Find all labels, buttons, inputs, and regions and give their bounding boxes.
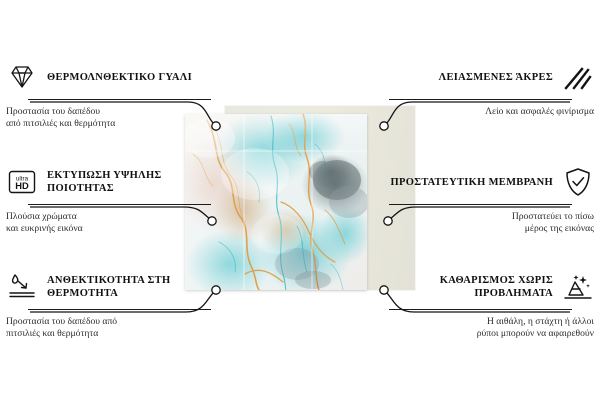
desc-line-1: Προστασία του δαπέδου [6,106,211,118]
feature-high-quality-print: ultra HD ΕΚΤΥΠΩΣΗ ΥΨΗΛΗΣ ΠΟΙΟΤΗΤΑΣ Πλούσ… [6,165,211,236]
desc-line-1: Λείο και ασφαλές φινίρισμα [389,106,594,118]
feature-header: ΠΡΟΣΤΑΤΕΥΤΙΚΗ ΜΕΜΒΡΑΝΗ [389,165,594,199]
svg-text:HD: HD [15,180,29,191]
desc-line-1: Η αιθάλη, η στάχτη ή άλλοι [389,316,594,328]
feature-smoothed-edges: ΛΕΙΑΣΜΕΝΕΣ ΆΚΡΕΣ Λείο και ασφαλές φινίρι… [389,60,594,118]
feature-easy-cleaning: ΚΑΘΑΡΙΣΜΟΣ ΧΩΡΙΣ ΠΡΟΒΛΗΜΑΤΑ Η αιθάλη, η … [389,270,594,341]
feature-header: ΑΝΘΕΚΤΙΚΟΤΗΤΑ ΣΤΗ ΘΕΡΜΟΤΗΤΑ [6,270,211,304]
feature-protective-membrane: ΠΡΟΣΤΑΤΕΥΤΙΚΗ ΜΕΜΒΡΑΝΗ Προστατεύει το πί… [389,165,594,236]
feature-title: ΕΚΤΥΠΩΣΗ ΥΨΗΛΗΣ ΠΟΙΟΤΗΤΑΣ [47,169,211,195]
feature-description: Προστασία του δαπέδου από πιτσιλιές και … [6,316,211,341]
feature-header: ΛΕΙΑΣΜΕΝΕΣ ΆΚΡΕΣ [389,60,594,94]
title-line-2: ΠΟΙΟΤΗΤΑΣ [47,183,114,194]
shield-check-icon [562,166,594,198]
feature-heat-durability: ΑΝΘΕΚΤΙΚΟΤΗΤΑ ΣΤΗ ΘΕΡΜΟΤΗΤΑ Προστασία το… [6,270,211,341]
title-line-2: ΠΡΟΒΛΗΜΑΤΑ [475,288,553,299]
feature-header: ΘΕΡΜΟΛΝΘΕΚΤΙΚΟ ΓΥΑΛΙ [6,60,211,94]
title-line-1: ΑΝΘΕΚΤΙΚΟΤΗΤΑ [47,275,145,286]
title-line-1: ΠΡΟΣΤΑΤΕΥΤΙΚΗ [391,177,486,188]
ultra-hd-icon: ultra HD [6,166,38,198]
product-image [185,110,415,290]
feature-title: ΘΕΡΜΟΛΝΘΕΚΤΙΚΟ ΓΥΑΛΙ [47,71,192,84]
feature-title: ΚΑΘΑΡΙΣΜΟΣ ΧΩΡΙΣ ΠΡΟΒΛΗΜΑΤΑ [389,274,553,300]
title-line-2: ΓΥΑΛΙ [158,72,192,83]
heat-resistance-icon [6,271,38,303]
feature-header: ΚΑΘΑΡΙΣΜΟΣ ΧΩΡΙΣ ΠΡΟΒΛΗΜΑΤΑ [389,270,594,304]
feature-description: Προστατεύει το πίσω μέρος της εικόνας [389,211,594,236]
title-line-2: ΜΕΜΒΡΑΝΗ [489,177,553,188]
feature-description: Η αιθάλη, η στάχτη ή άλλοι ρύποι μπορούν… [389,316,594,341]
divider [28,204,211,205]
desc-line-2: από πιτσιλιές και θερμότητα [6,118,211,130]
marble-artwork [185,114,367,290]
feature-heat-resistant-glass: ΘΕΡΜΟΛΝΘΕΚΤΙΚΟ ΓΥΑΛΙ Προστασία του δαπέδ… [6,60,211,131]
feature-header: ultra HD ΕΚΤΥΠΩΣΗ ΥΨΗΛΗΣ ΠΟΙΟΤΗΤΑΣ [6,165,211,199]
diamond-icon [6,61,38,93]
feature-description: Πλούσια χρώματα και ευκρινής εικόνα [6,211,211,236]
desc-line-2: πιτσιλιές και θερμότητα [6,328,211,340]
divider [28,99,211,100]
title-line-1: ΚΑΘΑΡΙΣΜΟΣ ΧΩΡΙΣ [440,275,553,286]
desc-line-2: μέρος της εικόνας [389,223,594,235]
divider [389,204,572,205]
desc-line-1: Προστατεύει το πίσω [389,211,594,223]
title-line-1: ΛΕΙΑΣΜΕΝΕΣ [439,72,513,83]
easy-clean-icon [562,271,594,303]
divider [389,309,572,310]
feature-description: Προστασία του δαπέδου από πιτσιλιές και … [6,106,211,131]
feature-description: Λείο και ασφαλές φινίρισμα [389,106,594,118]
divider [389,99,572,100]
feature-title: ΑΝΘΕΚΤΙΚΟΤΗΤΑ ΣΤΗ ΘΕΡΜΟΤΗΤΑ [47,274,211,300]
glass-panel [185,114,367,290]
infographic-canvas: ΘΕΡΜΟΛΝΘΕΚΤΙΚΟ ΓΥΑΛΙ Προστασία του δαπέδ… [0,0,600,400]
desc-line-1: Πλούσια χρώματα [6,211,211,223]
desc-line-1: Προστασία του δαπέδου από [6,316,211,328]
feature-title: ΛΕΙΑΣΜΕΝΕΣ ΆΚΡΕΣ [439,71,553,84]
title-line-1: ΘΕΡΜΟΛΝΘΕΚΤΙΚΟ [47,72,156,83]
desc-line-2: και ευκρινής εικόνα [6,223,211,235]
feature-title: ΠΡΟΣΤΑΤΕΥΤΙΚΗ ΜΕΜΒΡΑΝΗ [391,176,553,189]
title-line-2: ΆΚΡΕΣ [515,72,553,83]
desc-line-2: ρύποι μπορούν να αφαιρεθούν [389,328,594,340]
smooth-edges-icon [562,61,594,93]
divider [28,309,211,310]
title-line-1: ΕΚΤΥΠΩΣΗ ΥΨΗΛΗΣ [47,170,162,181]
